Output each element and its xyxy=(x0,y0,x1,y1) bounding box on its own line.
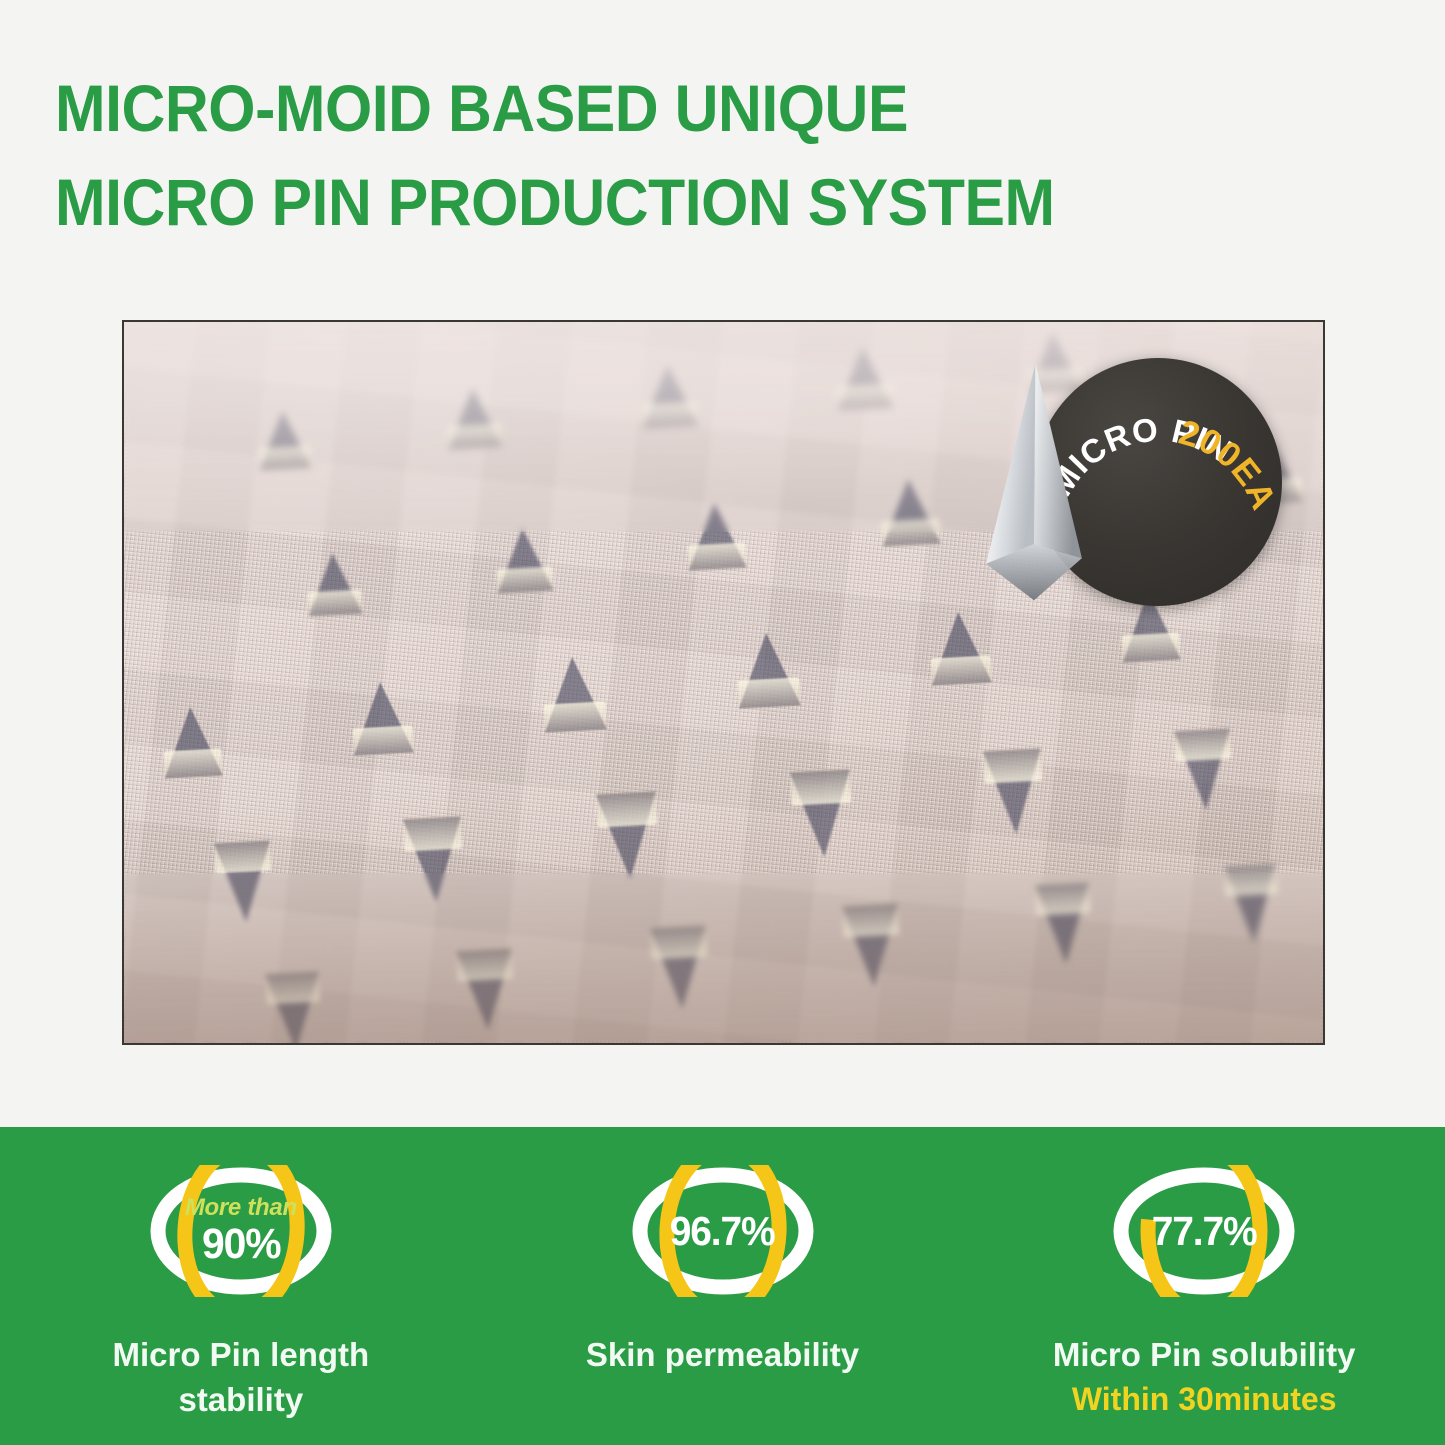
promo-page: MICRO-MOID BASED UNIQUE MICRO PIN PRODUC… xyxy=(0,0,1445,1445)
progress-ring-2: 96.7% xyxy=(627,1165,819,1297)
stat-3-caption: Micro Pin solubility Within 30minutes xyxy=(1053,1333,1356,1421)
stat-micro-pin-length-stability: More than 90% Micro Pin length stability xyxy=(0,1127,482,1445)
page-title-line-2: MICRO PIN PRODUCTION SYSTEM xyxy=(55,156,1334,250)
stat-skin-permeability: 96.7% Skin permeability xyxy=(482,1127,964,1445)
page-title: MICRO-MOID BASED UNIQUE MICRO PIN PRODUC… xyxy=(55,62,1334,249)
progress-ring-3: 77.7% xyxy=(1108,1165,1300,1297)
micro-pin-count-badge: MICRO PIN 200EA xyxy=(1034,358,1282,606)
stat-1-caption-line-1: Micro Pin length xyxy=(112,1336,369,1373)
page-title-line-1: MICRO-MOID BASED UNIQUE xyxy=(55,62,1334,156)
stat-1-prefix: More than xyxy=(185,1196,297,1220)
stat-2-caption: Skin permeability xyxy=(586,1333,859,1378)
progress-ring-1: More than 90% xyxy=(145,1165,337,1297)
stats-band: More than 90% Micro Pin length stability… xyxy=(0,1127,1445,1445)
micro-pin-photo: MICRO PIN 200EA xyxy=(122,320,1325,1045)
stat-3-caption-sub: Within 30minutes xyxy=(1053,1378,1356,1422)
stat-2-value: 96.7% xyxy=(670,1211,775,1252)
stat-1-value: 90% xyxy=(202,1223,280,1266)
badge-arc-count: 200EA xyxy=(1175,413,1282,516)
stat-1-caption-line-2: stability xyxy=(178,1381,303,1418)
micro-pin-pyramid-icon xyxy=(910,358,1158,606)
stat-micro-pin-solubility: 77.7% Micro Pin solubility Within 30minu… xyxy=(963,1127,1445,1445)
stat-3-value: 77.7% xyxy=(1152,1211,1257,1252)
progress-ring-3-text: 77.7% xyxy=(1149,1211,1259,1252)
progress-ring-1-text: More than 90% xyxy=(185,1196,297,1266)
stat-2-caption-line-1: Skin permeability xyxy=(586,1336,859,1373)
svg-text:200EA: 200EA xyxy=(1175,413,1282,516)
progress-ring-2-text: 96.7% xyxy=(667,1211,777,1252)
stat-3-caption-line-1: Micro Pin solubility xyxy=(1053,1336,1356,1373)
photo-blur-bottom xyxy=(124,873,1323,1043)
stat-1-caption: Micro Pin length stability xyxy=(71,1333,411,1423)
